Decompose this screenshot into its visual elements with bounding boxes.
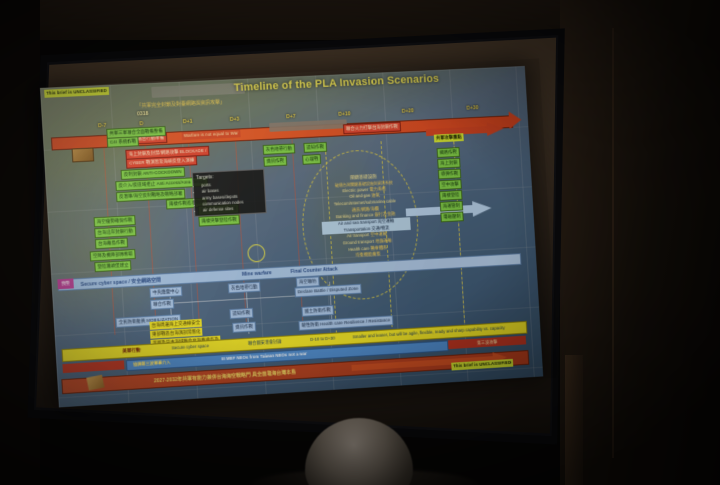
mid-item-1: 認知作戰 — [303, 142, 327, 152]
right-item-2: 導彈作戰 — [438, 169, 461, 179]
yellow-band-item-0: Secure cyber space — [172, 344, 210, 351]
left-item-10: 台海離島作戰 — [95, 237, 128, 248]
flow-c3-2: 國土防衛作戰 — [301, 305, 333, 316]
left-item-12: 登陸灘頭堡建立 — [94, 260, 132, 272]
timeline-tick-2: D+1 — [183, 119, 193, 125]
yellow-band-left: 美軍行動 — [122, 347, 141, 354]
yellow-band-item-2: D-10 to D+30 — [310, 336, 335, 342]
timeline-tick-4: D+7 — [286, 114, 296, 120]
redaction-bar — [151, 83, 245, 98]
focus-circle-small — [247, 244, 266, 263]
timeline-tick-6: D+20 — [402, 108, 414, 114]
red-strip-left — [62, 360, 124, 373]
mid-item-3: 心理戰 — [302, 154, 321, 164]
blue-arrow-head — [472, 200, 492, 217]
right-item-0: 網路作戰 — [437, 147, 460, 157]
left-item-1: C4I 系統作戰 — [107, 136, 140, 147]
classification-label-top: This brief is UNCLASSIFIED — [44, 87, 109, 97]
timeline-tick-7: D+30 — [466, 105, 478, 111]
right-item-6: 電磁壓制 — [440, 211, 463, 221]
right-item-1: 海上封鎖 — [437, 158, 460, 168]
mid-item-0: 灰色地帶行動 — [263, 144, 296, 155]
left-item-8: 海空優勢確保作戰 — [94, 215, 136, 227]
projected-slide: This brief is UNCLASSIFIED Timeline of t… — [40, 66, 543, 407]
targets-panel: Targets: ports air bases army bases/depo… — [192, 169, 267, 218]
warning-tag: 預警 — [57, 278, 74, 289]
flow-c3-3: 韌性防衛 Health care Resilience / Resistance — [298, 315, 393, 330]
mid-item-2: 資訊作戰 — [263, 156, 287, 167]
right-item-4: 兩棲登陸 — [439, 190, 462, 200]
flow-c1-0: 中央應變中心 — [149, 286, 182, 297]
room-wall-right — [560, 0, 720, 485]
timeline-tick-5: D+10 — [338, 111, 350, 117]
timeline-arrowhead — [509, 111, 522, 129]
blue-band-seg-1: Mine warfare — [242, 270, 272, 278]
blue-band-seg-2: Final Counter Attack — [290, 266, 337, 275]
timeline-date-label: 0318 — [137, 111, 149, 117]
scroll-emblem-top — [72, 147, 95, 162]
flow-c1-1: 聯合作戰 — [150, 299, 174, 310]
right-item-5: 海運管制 — [440, 201, 463, 211]
left-item-9: 台海沿岸封鎖行動 — [94, 226, 136, 238]
yellow-band-item-1: 聯合國安理會討論 — [248, 339, 282, 347]
slide-map-background: This brief is UNCLASSIFIED Timeline of t… — [40, 66, 543, 407]
neo-strip-left: 協調第三波軍事介入 — [133, 360, 171, 368]
photo-scene: This brief is UNCLASSIFIED Timeline of t… — [0, 0, 720, 485]
slide-subtitle: 「共軍完全封鎖及對臺網路與資訊攻擊」 — [136, 98, 225, 109]
neo-strip-text: III MEF NEOs from Taiwan NEOs not a war — [221, 351, 307, 361]
door-frame — [565, 355, 583, 485]
flow-c2-1: 認知作戰 — [229, 308, 253, 319]
critical-infrastructure-panel: 關鍵基礎設施 破壞台灣關鍵基礎設施與資訊系統 Electric power 電力… — [319, 171, 412, 261]
red-banner-text: 2027-2032年共軍有能力兼併台海海空戰略門 具全面臨海台灣本島 — [154, 369, 296, 385]
wall-panel-seam — [612, 28, 614, 458]
right-item-3: 空中攻擊 — [438, 179, 461, 189]
blue-band-seg-0: Secure cyber space / 安全網路空間 — [80, 276, 161, 288]
timeline-tick-3: D+3 — [230, 117, 240, 123]
flow-c2-2: 資訊作戰 — [232, 322, 256, 333]
left-item-11: 空降及機降部隊奪取 — [90, 249, 137, 261]
flow-c2-0: 灰色地帶行動 — [228, 282, 261, 293]
red-arrow-head — [486, 122, 504, 136]
right-column-header: 共軍攻擊重點 — [434, 133, 464, 142]
